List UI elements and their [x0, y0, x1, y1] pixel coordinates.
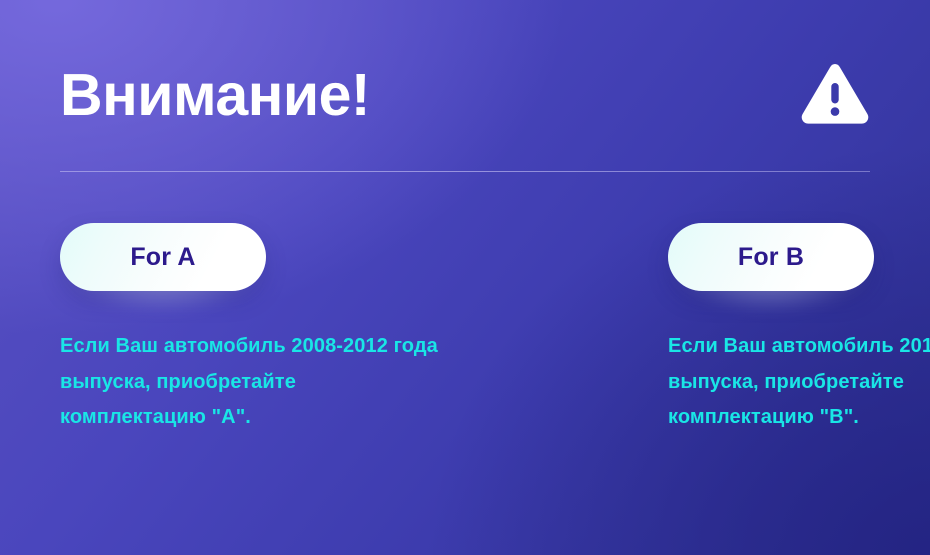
- page-title: Внимание!: [60, 65, 370, 125]
- for-b-button[interactable]: For B: [668, 223, 874, 291]
- for-b-button-label: For B: [738, 245, 804, 270]
- option-a-description: Если Ваш автомобиль 2008-2012 года выпус…: [60, 329, 440, 436]
- warning-banner: Внимание! For A Если Ваш автомобиль 2008…: [0, 0, 930, 555]
- for-a-button[interactable]: For A: [60, 223, 266, 291]
- pill-wrap-a: For A: [60, 223, 266, 291]
- pill-wrap-b: For B: [668, 223, 874, 291]
- banner-header: Внимание!: [60, 52, 870, 138]
- option-column-a: For A Если Ваш автомобиль 2008-2012 года…: [60, 223, 440, 436]
- option-column-b: For B Если Ваш автомобиль 2013-2019 года…: [668, 223, 930, 436]
- header-divider: [60, 171, 870, 172]
- warning-triangle-icon: [800, 63, 870, 127]
- for-a-button-label: For A: [130, 245, 195, 270]
- options-columns: For A Если Ваш автомобиль 2008-2012 года…: [60, 223, 880, 436]
- option-b-description: Если Ваш автомобиль 2013-2019 года выпус…: [668, 329, 930, 436]
